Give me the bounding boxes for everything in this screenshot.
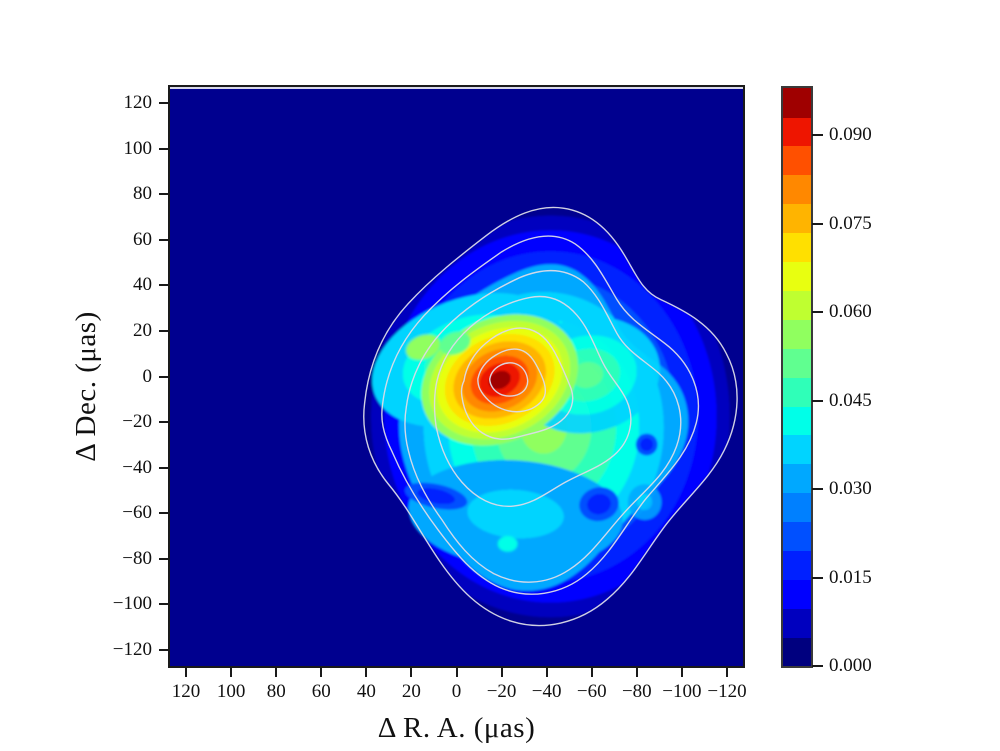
y-tick-label: −60 — [102, 503, 152, 522]
y-tick-label: −80 — [102, 549, 152, 568]
colorbar-band — [783, 88, 811, 118]
colorbar-tick-mark — [812, 488, 823, 490]
colorbar-tick-mark — [812, 311, 823, 313]
east-knot-3 — [636, 434, 658, 456]
x-axis-title: Δ R. A. (μas) — [168, 712, 745, 745]
y-tick-mark — [159, 603, 168, 605]
y-tick-mark — [159, 239, 168, 241]
colorbar-band — [783, 377, 811, 407]
colorbar-tick-mark — [812, 400, 823, 402]
south-knot — [498, 536, 518, 552]
y-tick-mark — [159, 102, 168, 104]
y-tick-mark — [159, 148, 168, 150]
x-tick-mark — [275, 668, 277, 677]
x-tick-mark — [726, 668, 728, 677]
y-tick-mark — [159, 193, 168, 195]
contour-field — [170, 87, 743, 666]
y-tick-mark — [159, 330, 168, 332]
colorbar-band — [783, 233, 811, 263]
colorbar-band — [783, 637, 811, 667]
y-tick-mark — [159, 421, 168, 423]
y-tick-label: 100 — [102, 139, 152, 158]
y-tick-label: 20 — [102, 321, 152, 340]
y-tick-mark — [159, 512, 168, 514]
colorbar-tick-label: 0.030 — [829, 479, 872, 498]
colorbar-band — [783, 117, 811, 147]
x-tick-mark — [591, 668, 593, 677]
y-tick-mark — [159, 467, 168, 469]
y-tick-label: −120 — [102, 640, 152, 659]
x-tick-mark — [320, 668, 322, 677]
colorbar-tick-label: 0.075 — [829, 214, 872, 233]
x-tick-mark — [456, 668, 458, 677]
y-tick-label: −20 — [102, 412, 152, 431]
colorbar-band — [783, 464, 811, 494]
colorbar-band — [783, 146, 811, 176]
x-tick-mark — [185, 668, 187, 677]
y-tick-label: 40 — [102, 275, 152, 294]
x-tick-mark — [681, 668, 683, 677]
colorbar-band — [783, 608, 811, 638]
colorbar — [781, 86, 813, 668]
colorbar-band — [783, 550, 811, 580]
y-tick-label: −40 — [102, 458, 152, 477]
colorbar-tick-label: 0.015 — [829, 568, 872, 587]
colorbar-band — [783, 175, 811, 205]
colorbar-band — [783, 261, 811, 291]
y-tick-label: 60 — [102, 230, 152, 249]
y-tick-label: 0 — [102, 367, 152, 386]
colorbar-tick-mark — [812, 223, 823, 225]
y-tick-label: −100 — [102, 594, 152, 613]
colorbar-tick-label: 0.000 — [829, 656, 872, 675]
colorbar-band — [783, 493, 811, 523]
x-tick-mark — [546, 668, 548, 677]
y-tick-label: 120 — [102, 93, 152, 112]
colorbar-band — [783, 290, 811, 320]
colorbar-tick-label: 0.060 — [829, 302, 872, 321]
colorbar-band — [783, 435, 811, 465]
colorbar-tick-mark — [812, 665, 823, 667]
y-tick-mark — [159, 649, 168, 651]
contour-plot-figure: 120100806040200−20−40−60−80−100−120 1201… — [0, 0, 1000, 751]
colorbar-band — [783, 522, 811, 552]
colorbar-tick-mark — [812, 134, 823, 136]
y-tick-mark — [159, 376, 168, 378]
x-tick-mark — [636, 668, 638, 677]
x-tick-label: −120 — [697, 682, 757, 701]
y-tick-mark — [159, 284, 168, 286]
colorbar-tick-label: 0.045 — [829, 391, 872, 410]
colorbar-band — [783, 204, 811, 234]
colorbar-tick-mark — [812, 577, 823, 579]
colorbar-band — [783, 319, 811, 349]
colorbar-band — [783, 579, 811, 609]
colorbar-band — [783, 348, 811, 378]
x-tick-mark — [365, 668, 367, 677]
plot-area — [168, 85, 745, 668]
y-tick-label: 80 — [102, 184, 152, 203]
y-tick-mark — [159, 558, 168, 560]
x-tick-mark — [410, 668, 412, 677]
y-axis-title: Δ Dec. (μas) — [70, 95, 103, 678]
colorbar-tick-label: 0.090 — [829, 125, 872, 144]
x-tick-mark — [501, 668, 503, 677]
colorbar-band — [783, 406, 811, 436]
x-tick-mark — [230, 668, 232, 677]
east-knot-2 — [628, 484, 662, 520]
